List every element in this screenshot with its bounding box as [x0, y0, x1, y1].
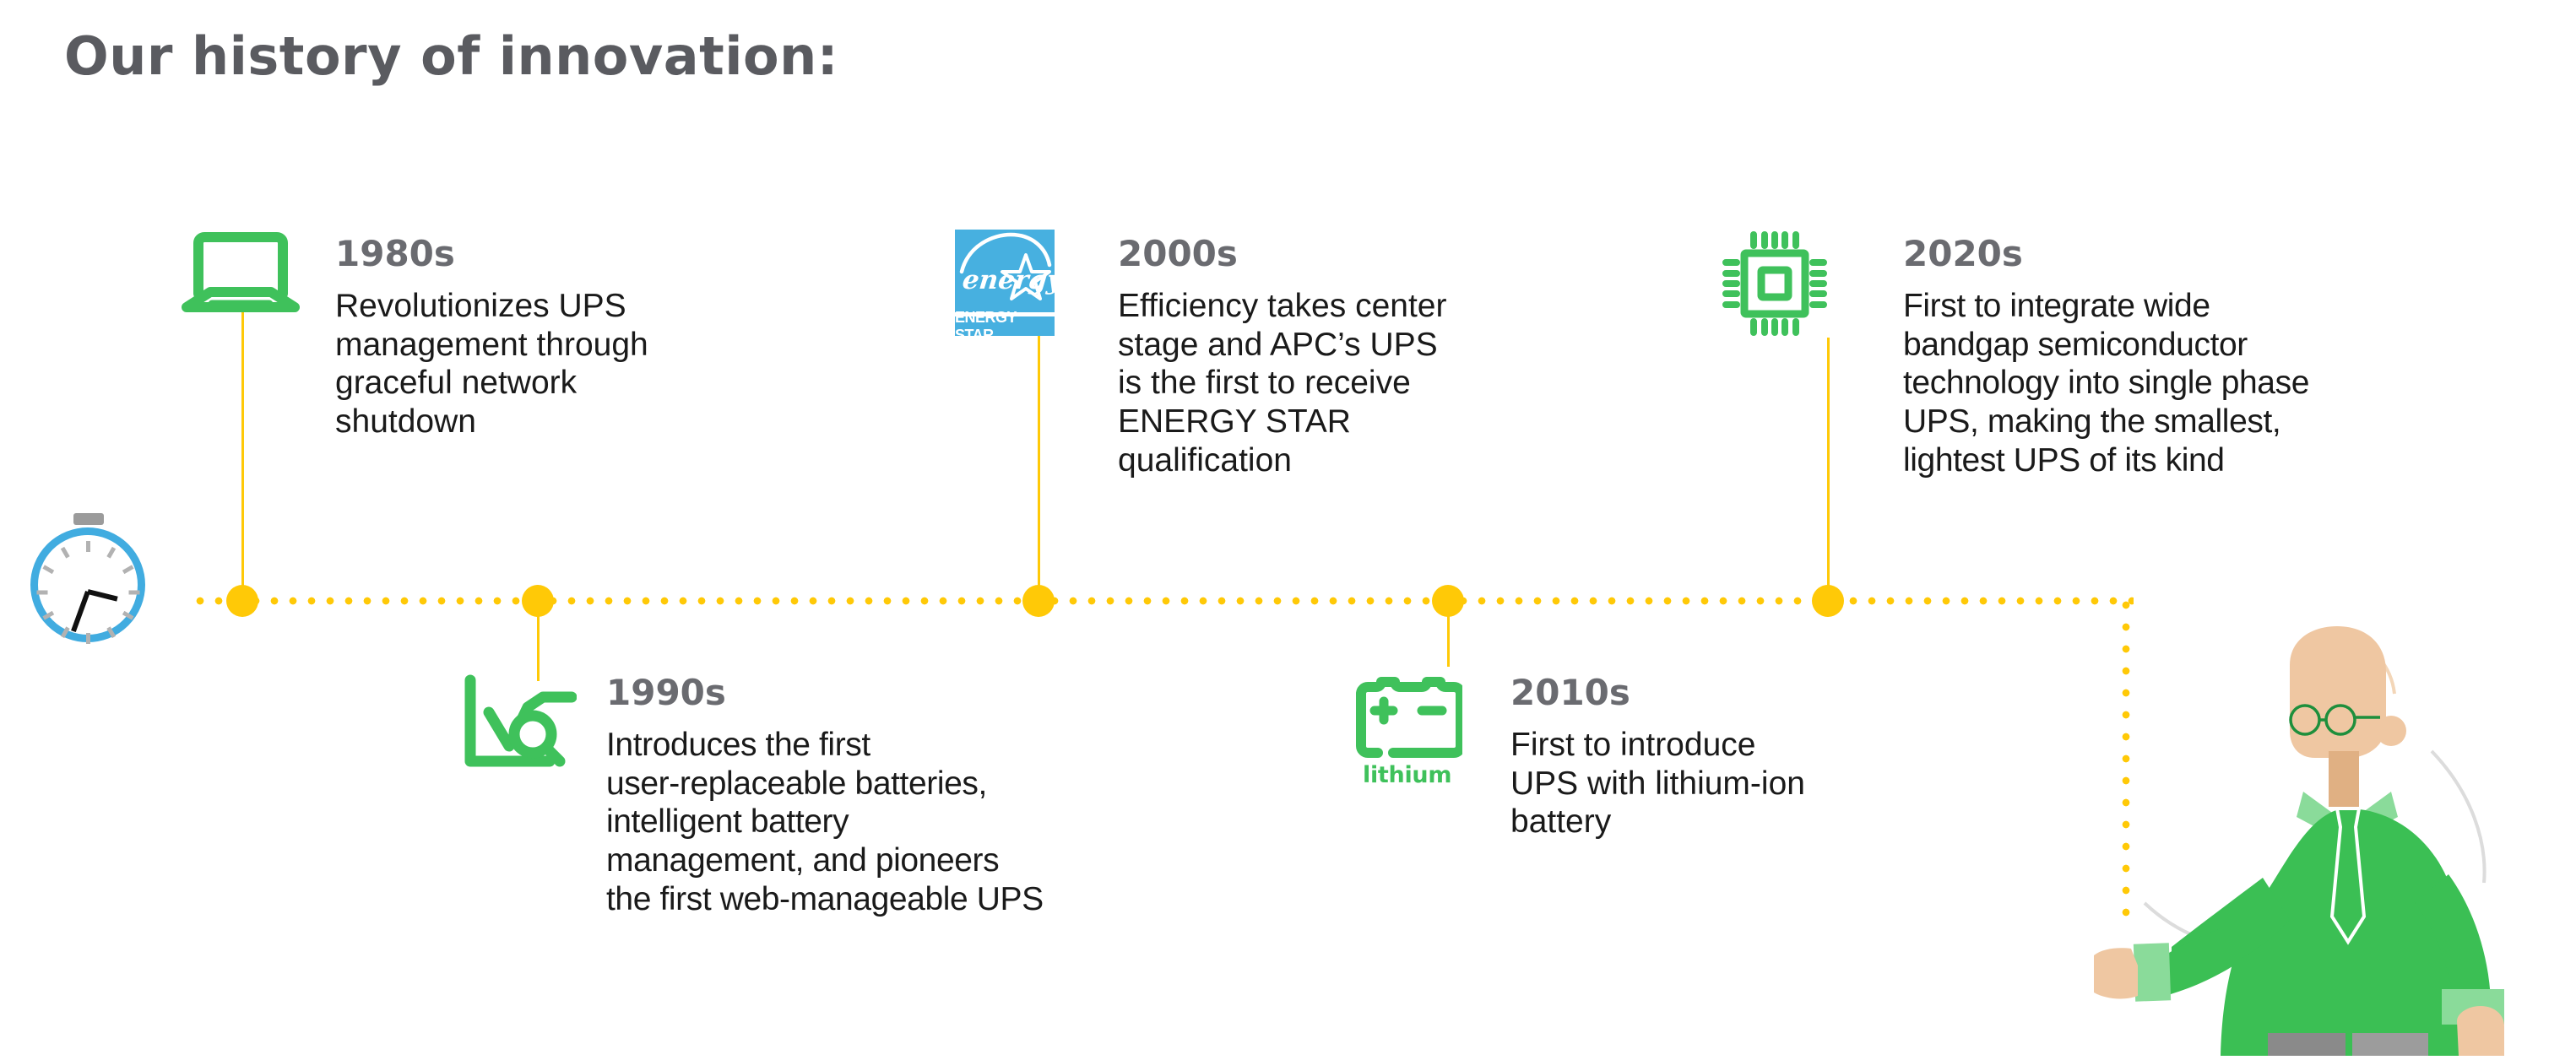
timeline-stem-2000s [1038, 336, 1040, 603]
entry-year-2000s: 2000s [1118, 236, 1489, 272]
clock-minute-hand [71, 591, 90, 632]
infographic-canvas: Our history of innovation: [0, 0, 2576, 1056]
clock-hour-hand [87, 589, 117, 602]
entry-body-1990s: Introduces the first user-replaceable ba… [606, 726, 1113, 918]
entry-body-2020s: First to integrate wide bandgap semicond… [1903, 287, 2576, 479]
timeline-node-2020s[interactable] [1812, 585, 1844, 617]
clock-icon [25, 513, 152, 669]
entry-year-2010s: 2010s [1510, 675, 1865, 711]
entry-1990s: 1990s Introduces the first user-replacea… [606, 675, 1113, 918]
entry-2000s: 2000s Efficiency takes center stage and … [1118, 236, 1489, 479]
clock-crown-icon [73, 513, 104, 525]
entry-1980s: 1980s Revolutionizes UPS management thro… [335, 236, 698, 441]
energy-star-icon: energy ENERGY STAR [955, 230, 1055, 336]
entry-2010s: 2010s First to introduce UPS with lithiu… [1510, 675, 1865, 841]
chart-search-icon [458, 673, 577, 775]
timeline-stem-1980s [241, 312, 244, 603]
lithium-battery-label: lithium [1363, 762, 1451, 788]
clock-face [30, 527, 145, 642]
timeline-node-2000s[interactable] [1022, 585, 1055, 617]
timeline-node-2010s[interactable] [1432, 585, 1464, 617]
energy-star-label: ENERGY STAR [955, 316, 1055, 336]
entry-body-2000s: Efficiency takes center stage and APC’s … [1118, 287, 1489, 479]
timeline-node-1990s[interactable] [522, 585, 554, 617]
lithium-battery-icon [1353, 675, 1462, 763]
entry-body-2010s: First to introduce UPS with lithium-ion … [1510, 726, 1865, 841]
businessman-illustration [2094, 625, 2576, 1056]
entry-year-1990s: 1990s [606, 675, 1113, 711]
entry-year-1980s: 1980s [335, 236, 698, 272]
entry-2020s: 2020s First to integrate wide bandgap se… [1903, 236, 2576, 479]
energy-star-script-text: energy [961, 265, 1064, 295]
laptop-icon [173, 230, 308, 314]
timeline-stem-2020s [1827, 338, 1830, 603]
page-title: Our history of innovation: [64, 25, 838, 87]
entry-year-2020s: 2020s [1903, 236, 2576, 272]
microchip-icon [1719, 228, 1830, 339]
timeline-node-1980s[interactable] [226, 585, 258, 617]
entry-body-1980s: Revolutionizes UPS management through gr… [335, 287, 698, 441]
